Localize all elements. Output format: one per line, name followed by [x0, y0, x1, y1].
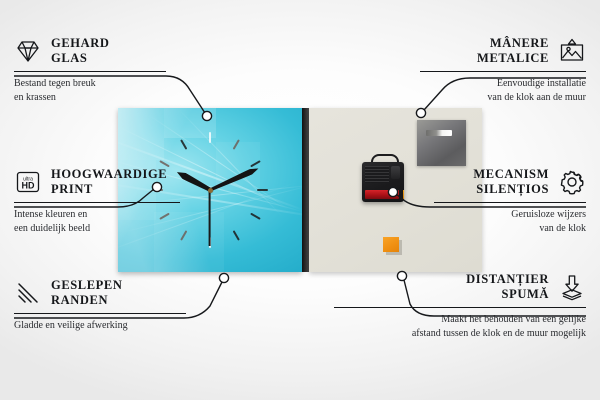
feature-header: GESLEPEN RANDEN: [14, 278, 186, 308]
feature-header: DISTANȚIER SPUMĂ: [334, 272, 586, 302]
svg-text:HD: HD: [22, 180, 35, 190]
feature-header: ultra HD HOOGWAARDIGE PRINT: [14, 167, 180, 197]
clock-center-cap: [208, 188, 213, 193]
feature-header: MECANISM SILENȚIOS: [434, 167, 586, 197]
feature-rule: [420, 71, 586, 73]
quartz-mechanism-box: [362, 162, 404, 202]
clock-side-edge: [302, 108, 309, 272]
mechanism-ribs: [365, 166, 389, 183]
infographic-canvas: GEHARD GLAS Bestand tegen breuk en krass…: [0, 0, 600, 400]
diamond-icon: [14, 37, 42, 65]
foam-spacer-arrow-icon: [558, 273, 586, 301]
mechanism-knob: [391, 166, 400, 179]
feature-subtitle: Maakt het behouden van een gelijke afsta…: [334, 313, 586, 340]
foam-spacer: [383, 237, 399, 252]
feature-rule: [14, 71, 166, 73]
feature-rule: [334, 307, 586, 309]
feature-title: MÂNERE METALICE: [477, 36, 549, 66]
feature-gehard-glas: GEHARD GLAS Bestand tegen breuk en krass…: [14, 36, 166, 104]
ultra-hd-icon: ultra HD: [14, 168, 42, 196]
hanger-slot: [426, 130, 452, 136]
gear-icon: [558, 168, 586, 196]
feature-rule: [434, 202, 586, 204]
feature-title: HOOGWAARDIGE PRINT: [51, 167, 167, 197]
clock-second-hand: [209, 190, 211, 246]
feature-hoogwaardige-print: ultra HD HOOGWAARDIGE PRINT Intense kleu…: [14, 167, 180, 235]
feature-title: GESLEPEN RANDEN: [51, 278, 123, 308]
feature-subtitle: Geruisloze wijzers van de klok: [434, 208, 586, 235]
feature-rule: [14, 202, 180, 204]
feature-title: MECANISM SILENȚIOS: [473, 167, 549, 197]
feature-subtitle: Intense kleuren en een duidelijk beeld: [14, 208, 180, 235]
feature-geslepen-randen: GESLEPEN RANDEN Gladde en veilige afwerk…: [14, 278, 186, 333]
feature-subtitle: Bestand tegen breuk en krassen: [14, 77, 166, 104]
feature-header: MÂNERE METALICE: [420, 36, 586, 66]
feature-mecanism-silentios: MECANISM SILENȚIOS Geruisloze wijzers va…: [434, 167, 586, 235]
feature-subtitle: Gladde en veilige afwerking: [14, 319, 186, 333]
feature-title: GEHARD GLAS: [51, 36, 109, 66]
feature-header: GEHARD GLAS: [14, 36, 166, 66]
battery: [365, 190, 399, 199]
feature-subtitle: Eenvoudige installatie van de klok aan d…: [420, 77, 586, 104]
feature-title: DISTANȚIER SPUMĂ: [466, 272, 549, 302]
battery-tip: [403, 190, 404, 199]
feature-manere-metalice: MÂNERE METALICE Eenvoudige installatie v…: [420, 36, 586, 104]
metal-hanger-plate: [417, 120, 466, 166]
feature-distantier-spuma: DISTANȚIER SPUMĂ Maakt het behouden van …: [334, 272, 586, 340]
picture-hanger-icon: [558, 37, 586, 65]
feature-rule: [14, 313, 186, 315]
beveled-edge-icon: [14, 279, 42, 307]
